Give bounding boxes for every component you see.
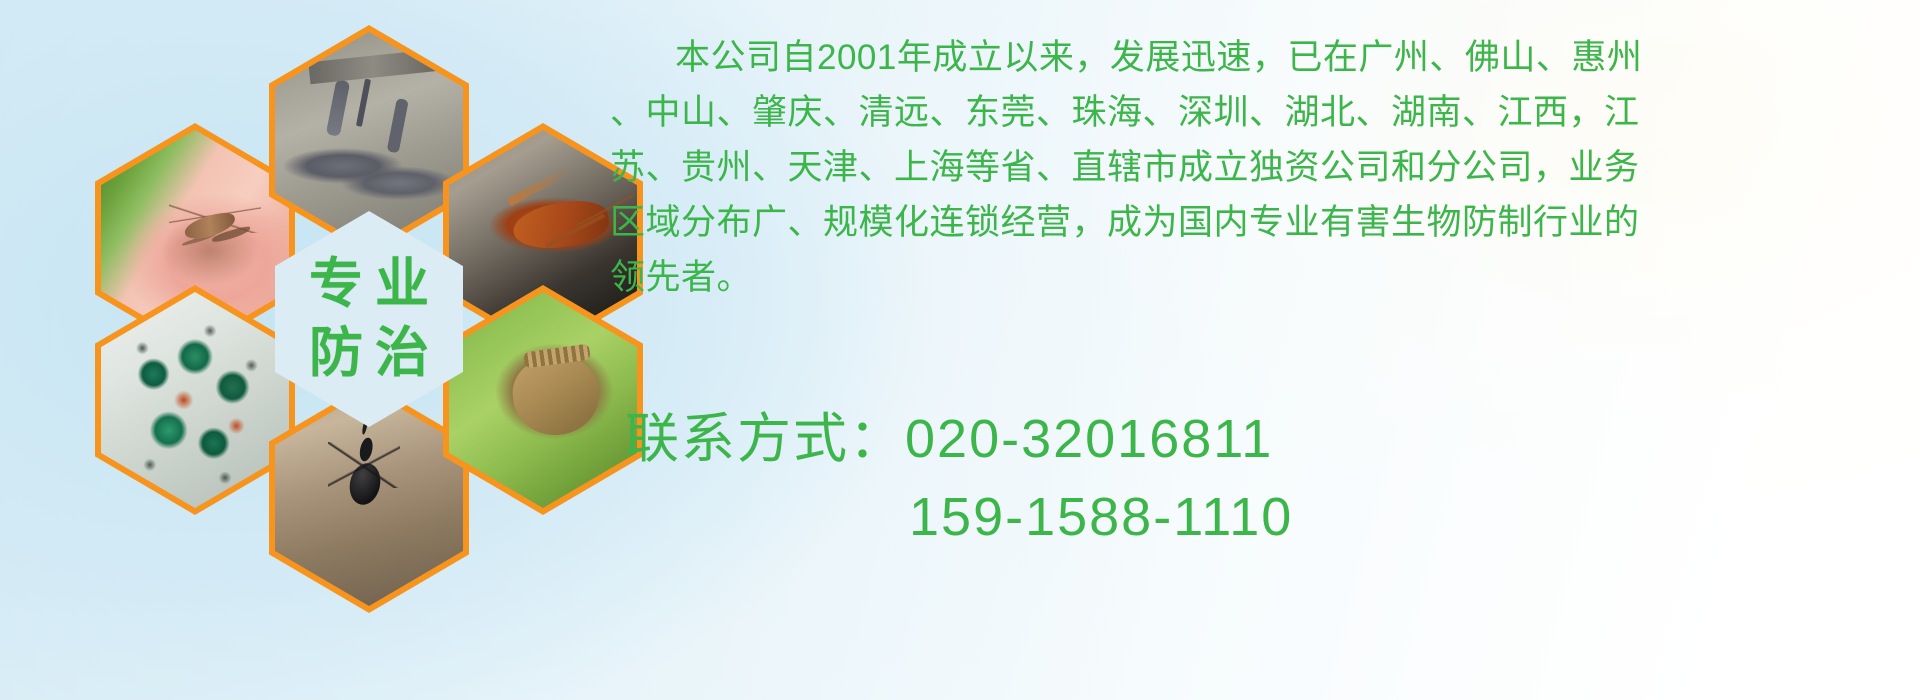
contact-phone-secondary[interactable]: 159-1588-1110 (909, 487, 1293, 547)
description-line-4: 区域分布广、规模化连锁经营，成为国内专业有害生物防制行业的 (610, 195, 1900, 250)
slogan-line-1: 专业 (297, 257, 441, 312)
hex-inner-slogan: 专业 防治 (275, 211, 463, 427)
hex-cell-flies (95, 285, 295, 515)
description-line-2: 、中山、肇庆、清远、东莞、珠海、深圳、湖北、湖南、江西，江 (610, 85, 1900, 140)
contact-primary-line: 联系方式：020-32016811 (625, 400, 1293, 478)
description-line-5: 领先者。 (610, 250, 1900, 305)
slogan-line-2: 防治 (297, 326, 441, 381)
hex-inner-stinkbug (449, 292, 637, 508)
honeycomb-logo: 专业 防治 (95, 0, 595, 570)
pest-control-banner: 专业 防治 本公司自2001年成立以来，发展迅速，已在广州、佛山、惠州 、中山、… (0, 0, 1920, 700)
stinkbug-photo (449, 292, 637, 508)
company-description: 本公司自2001年成立以来，发展迅速，已在广州、佛山、惠州 、中山、肇庆、清远、… (610, 30, 1910, 305)
flies-photo (101, 292, 289, 508)
contact-label: 联系方式： (625, 409, 905, 469)
description-paragraph: 本公司自2001年成立以来，发展迅速，已在广州、佛山、惠州 、中山、肇庆、清远、… (610, 30, 1900, 305)
description-line-3: 苏、贵州、天津、上海等省、直辖市成立独资公司和分公司，业务 (610, 140, 1900, 195)
hex-inner-flies (101, 292, 289, 508)
hex-cell-slogan: 专业 防治 (269, 204, 469, 434)
contact-phone-primary[interactable]: 020-32016811 (905, 409, 1273, 469)
description-line-1: 本公司自2001年成立以来，发展迅速，已在广州、佛山、惠州 (610, 30, 1900, 85)
hex-cell-stinkbug (443, 285, 643, 515)
contact-block: 联系方式：020-32016811 159-1588-1110 (625, 400, 1293, 556)
contact-secondary-line: 159-1588-1110 (625, 478, 1293, 556)
